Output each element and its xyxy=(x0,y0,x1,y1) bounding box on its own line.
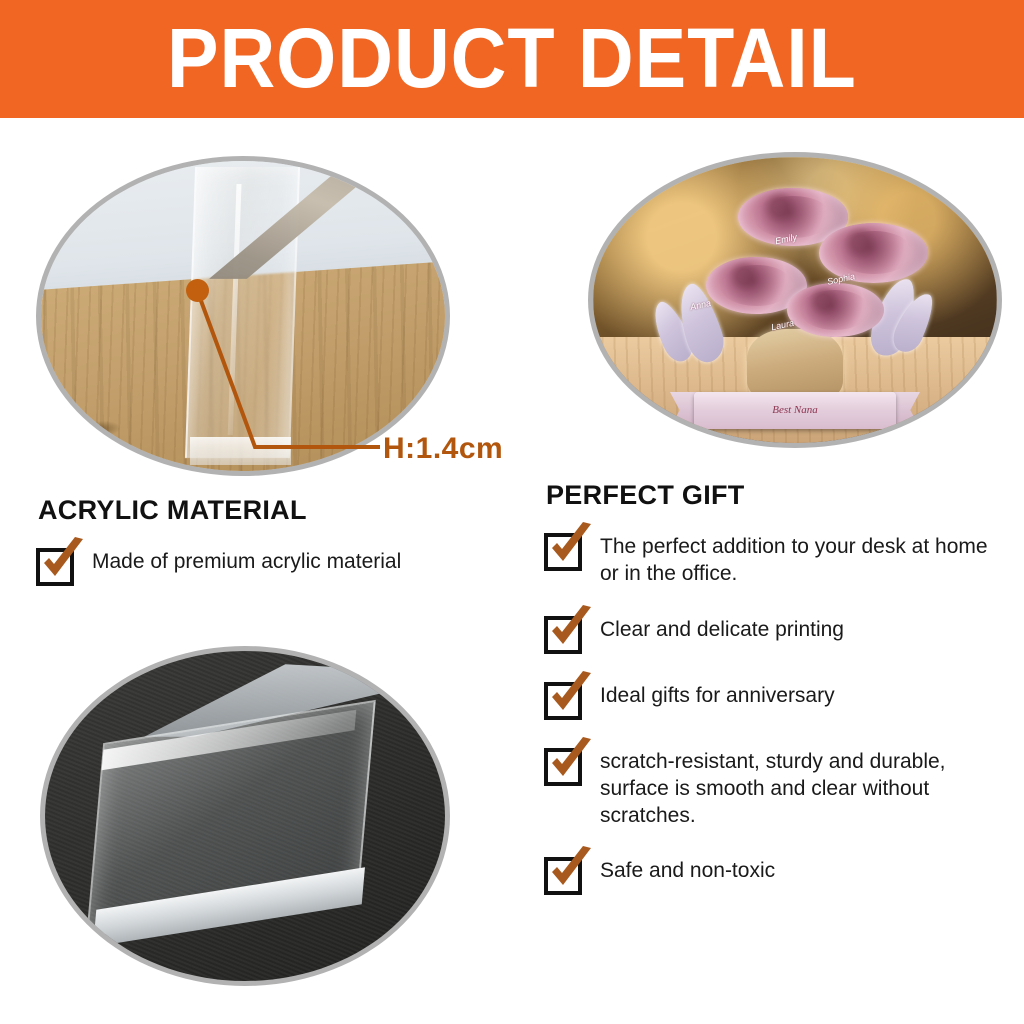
checkmark-icon xyxy=(544,533,582,571)
bullet-item: scratch-resistant, sturdy and durable, s… xyxy=(544,746,1004,830)
product-detail-page: PRODUCT DETAIL H:1.4cm xyxy=(0,0,1024,1024)
section-perfect-gift: PERFECT GIFT The perfect addition to you… xyxy=(544,480,1004,921)
engraved-rose xyxy=(787,283,884,337)
section-acrylic-material: ACRYLIC MATERIAL Made of premium acrylic… xyxy=(36,495,526,586)
photo-acrylic-edge xyxy=(41,161,445,471)
bullet-text: scratch-resistant, sturdy and durable, s… xyxy=(600,746,1004,830)
bullet-item: The perfect addition to your desk at hom… xyxy=(544,531,1004,588)
bullet-text: Safe and non-toxic xyxy=(600,855,775,885)
checkmark-icon xyxy=(544,748,582,786)
section-title-perfect-gift: PERFECT GIFT xyxy=(546,480,1004,511)
page-header-banner: PRODUCT DETAIL xyxy=(0,0,1024,118)
checkmark-icon xyxy=(544,616,582,654)
bullet-text: The perfect addition to your desk at hom… xyxy=(600,531,1004,588)
bullet-item: Safe and non-toxic xyxy=(544,855,1004,895)
checkmark-icon xyxy=(36,548,74,586)
bullet-item: Ideal gifts for anniversary xyxy=(544,680,1004,720)
photo-acrylic-edge-oval xyxy=(36,156,450,476)
checkmark-icon xyxy=(544,682,582,720)
photo-acrylic-slab xyxy=(45,651,445,981)
section-title-acrylic-material: ACRYLIC MATERIAL xyxy=(38,495,526,526)
checkmark-icon xyxy=(544,857,582,895)
wood-grain-knot xyxy=(78,419,122,438)
bullet-text: Clear and delicate printing xyxy=(600,614,844,644)
bullet-text: Made of premium acrylic material xyxy=(92,546,401,576)
engraved-rose xyxy=(819,223,928,283)
height-callout-label: H:1.4cm xyxy=(383,432,503,466)
page-title: PRODUCT DETAIL xyxy=(167,16,857,100)
ribbon-text: Best Nana xyxy=(772,404,818,416)
callout-anchor-dot xyxy=(186,279,209,302)
photo-rose-figurine: Emily Sophia Anna Laura Best Nana xyxy=(593,157,997,443)
figurine-ribbon-banner: Best Nana xyxy=(694,392,896,429)
photo-rose-figurine-oval: Emily Sophia Anna Laura Best Nana xyxy=(588,152,1002,448)
acrylic-block-bevel xyxy=(190,437,291,465)
bullet-item: Clear and delicate printing xyxy=(544,614,1004,654)
bullet-item: Made of premium acrylic material xyxy=(36,546,526,586)
bullet-text: Ideal gifts for anniversary xyxy=(600,680,835,710)
acrylic-block-body xyxy=(185,167,300,458)
acrylic-highlight xyxy=(229,185,243,436)
photo-acrylic-slab-oval xyxy=(40,646,450,986)
